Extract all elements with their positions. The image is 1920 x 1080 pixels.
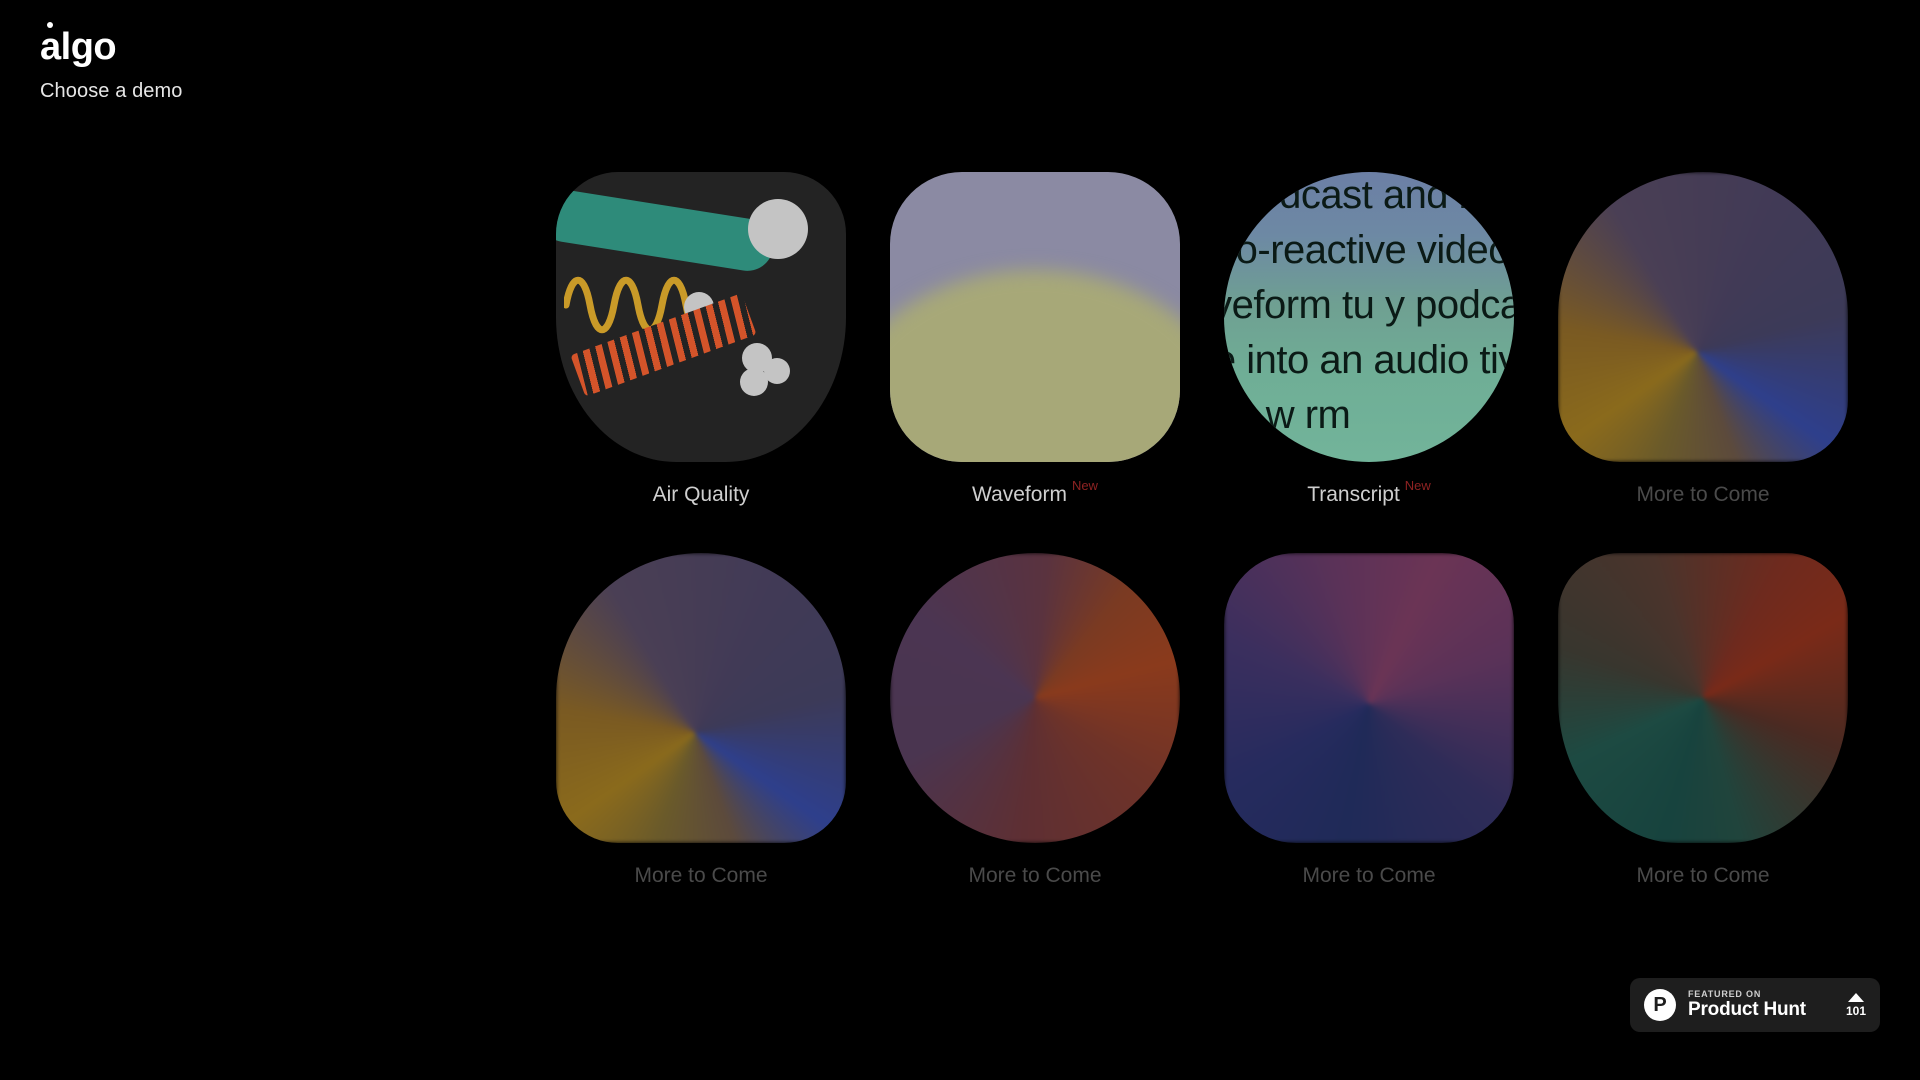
demo-card-transcript[interactable]: any podcast and bite into audio-reactive… [1224, 172, 1514, 505]
placeholder-gradient-artwork [556, 553, 846, 843]
app-root: algo Choose a demo Air Quality WaveformN… [0, 0, 1920, 1080]
demo-card-caption: WaveformNew [972, 484, 1098, 505]
upvote-count: 101 [1846, 1005, 1866, 1017]
demo-card-more-to-come[interactable]: More to Come [890, 553, 1180, 886]
air-quality-dot [740, 368, 768, 396]
demo-card-more-to-come[interactable]: More to Come [556, 553, 846, 886]
product-hunt-name: Product Hunt [1688, 999, 1840, 1021]
demo-card-thumbnail[interactable] [890, 553, 1180, 843]
waveform-hill-shape [890, 270, 1180, 462]
upvote-caret-icon [1848, 993, 1864, 1002]
header: algo Choose a demo [40, 28, 183, 103]
logo-dot-icon [47, 22, 53, 28]
demo-card-thumbnail[interactable]: any podcast and bite into audio-reactive… [1224, 172, 1514, 462]
demo-card-thumbnail[interactable] [1558, 172, 1848, 462]
demo-card-label: More to Come [1302, 865, 1435, 886]
demo-card-label: Transcript [1307, 484, 1400, 505]
placeholder-gradient-artwork [1558, 172, 1848, 462]
new-badge: New [1072, 479, 1098, 492]
demo-card-caption: Air Quality [653, 484, 750, 505]
demo-card-label: More to Come [968, 865, 1101, 886]
demo-card-label: Air Quality [653, 484, 750, 505]
demo-card-thumbnail[interactable] [1558, 553, 1848, 843]
upvote-group[interactable]: 101 [1846, 993, 1866, 1017]
demo-card-label: More to Come [634, 865, 767, 886]
new-badge: New [1405, 479, 1431, 492]
transcript-overflow-text: any podcast and bite into audio-reactive… [1224, 172, 1514, 443]
brand-logo: algo [40, 28, 116, 66]
product-hunt-logo-icon: P [1644, 989, 1676, 1021]
demo-card-caption: More to Come [634, 865, 767, 886]
placeholder-gradient-artwork [1558, 553, 1848, 843]
page-subtitle: Choose a demo [40, 80, 183, 103]
demo-grid: Air Quality WaveformNew any podcast and … [556, 172, 1876, 886]
demo-card-thumbnail[interactable] [890, 172, 1180, 462]
product-hunt-badge[interactable]: P FEATURED ON Product Hunt 101 [1630, 978, 1880, 1032]
air-quality-dot [748, 199, 808, 259]
demo-card-label: Waveform [972, 484, 1067, 505]
demo-card-air-quality[interactable]: Air Quality [556, 172, 846, 505]
demo-card-thumbnail[interactable] [1224, 553, 1514, 843]
placeholder-gradient-artwork [890, 553, 1180, 843]
demo-card-caption: More to Come [1302, 865, 1435, 886]
demo-card-caption: More to Come [968, 865, 1101, 886]
logo-text: algo [40, 28, 116, 66]
demo-card-more-to-come[interactable]: More to Come [1558, 553, 1848, 886]
demo-card-caption: TranscriptNew [1307, 484, 1431, 505]
product-hunt-text: FEATURED ON Product Hunt [1688, 990, 1840, 1021]
demo-card-more-to-come[interactable]: More to Come [1224, 553, 1514, 886]
demo-card-more-to-come[interactable]: More to Come [1558, 172, 1848, 505]
demo-card-caption: More to Come [1636, 865, 1769, 886]
demo-card-thumbnail[interactable] [556, 553, 846, 843]
demo-card-label: More to Come [1636, 484, 1769, 505]
demo-card-waveform[interactable]: WaveformNew [890, 172, 1180, 505]
demo-card-caption: More to Come [1636, 484, 1769, 505]
demo-card-label: More to Come [1636, 865, 1769, 886]
demo-card-thumbnail[interactable] [556, 172, 846, 462]
featured-on-label: FEATURED ON [1688, 990, 1840, 999]
placeholder-gradient-artwork [1224, 553, 1514, 843]
